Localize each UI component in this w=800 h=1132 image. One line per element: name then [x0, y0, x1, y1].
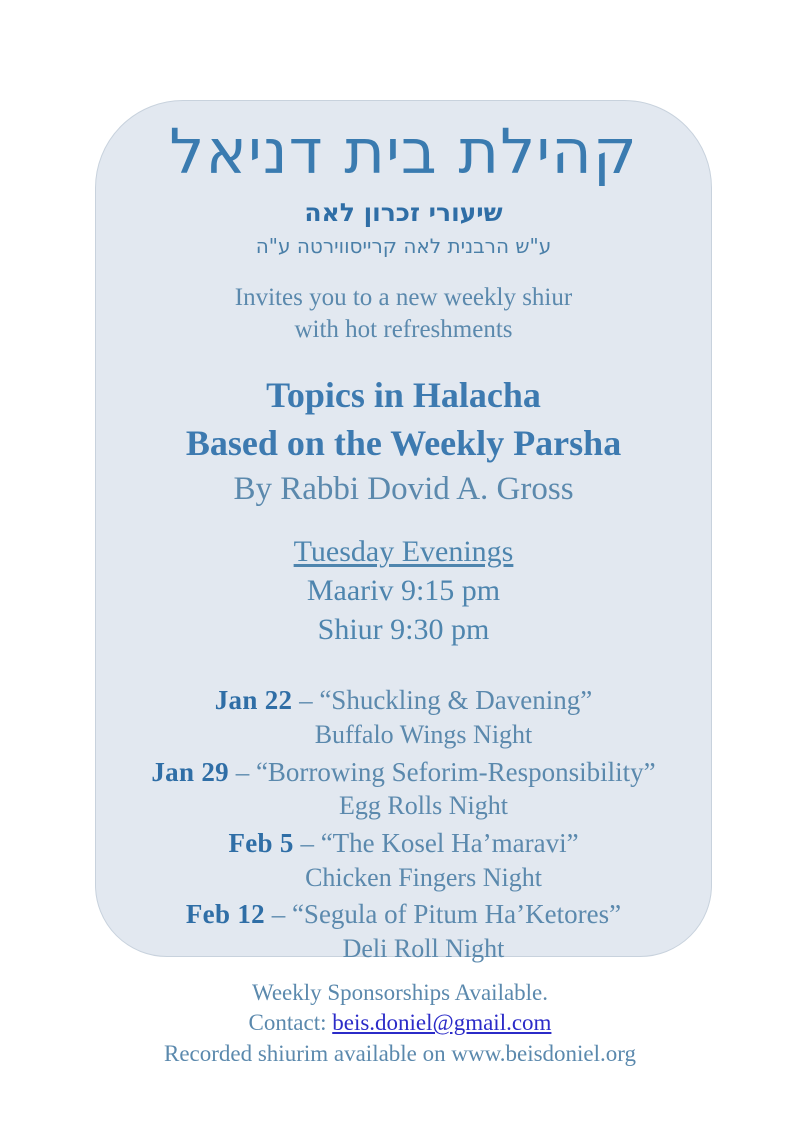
session-headline: Feb 5 – “The Kosel Ha’maravi”: [96, 826, 711, 861]
session-dash: –: [236, 757, 250, 787]
day-of-week-heading: Tuesday Evenings: [96, 532, 711, 571]
contact-line: Contact: beis.doniel@gmail.com: [0, 1008, 800, 1038]
hebrew-series-subtitle: שיעורי זכרון לאה: [96, 198, 711, 228]
session-date: Feb 5: [228, 828, 293, 858]
session-row: Feb 12 – “Segula of Pitum Ha’Ketores”Del…: [96, 897, 711, 965]
session-topic: “The Kosel Ha’maravi”: [321, 828, 579, 858]
session-headline: Jan 29 – “Borrowing Seforim-Responsibili…: [96, 755, 711, 790]
session-refreshment: Chicken Fingers Night: [96, 861, 711, 895]
presenter-name: By Rabbi Dovid A. Gross: [96, 469, 711, 510]
session-refreshment: Deli Roll Night: [96, 932, 711, 966]
contact-label: Contact:: [249, 1010, 327, 1035]
session-date: Jan 22: [215, 685, 293, 715]
session-refreshment: Egg Rolls Night: [96, 789, 711, 823]
shiur-time: Shiur 9:30 pm: [96, 610, 711, 649]
session-topic: “Borrowing Seforim-Responsibility”: [256, 757, 656, 787]
hebrew-dedication-line: ע"ש הרבנית לאה קרייסווירטה ע"ה: [96, 234, 711, 258]
invitation-line-1: Invites you to a new weekly shiur: [96, 282, 711, 314]
session-headline: Jan 22 – “Shuckling & Davening”: [96, 683, 711, 718]
session-topic: “Segula of Pitum Ha’Ketores”: [292, 899, 621, 929]
session-schedule-list: Jan 22 – “Shuckling & Davening”Buffalo W…: [96, 683, 711, 965]
session-date: Feb 12: [186, 899, 265, 929]
session-date: Jan 29: [151, 757, 229, 787]
session-dash: –: [272, 899, 286, 929]
session-dash: –: [299, 685, 313, 715]
session-headline: Feb 12 – “Segula of Pitum Ha’Ketores”: [96, 897, 711, 932]
schedule-times: Tuesday Evenings Maariv 9:15 pm Shiur 9:…: [96, 532, 711, 649]
invitation-line-2: with hot refreshments: [96, 314, 711, 346]
contact-email-link[interactable]: beis.doniel@gmail.com: [332, 1010, 551, 1035]
headline-line-1: Topics in Halacha: [96, 372, 711, 420]
recordings-note: Recorded shiurim available on www.beisdo…: [0, 1039, 800, 1069]
maariv-time: Maariv 9:15 pm: [96, 571, 711, 610]
session-refreshment: Buffalo Wings Night: [96, 718, 711, 752]
session-row: Jan 29 – “Borrowing Seforim-Responsibili…: [96, 755, 711, 823]
headline-line-2: Based on the Weekly Parsha: [96, 420, 711, 468]
hebrew-congregation-title: קהילת בית דניאל: [96, 101, 711, 184]
session-row: Feb 5 – “The Kosel Ha’maravi”Chicken Fin…: [96, 826, 711, 894]
session-topic: “Shuckling & Davening”: [319, 685, 592, 715]
flyer-footer: Weekly Sponsorships Available. Contact: …: [0, 978, 800, 1069]
session-dash: –: [300, 828, 314, 858]
invitation-block: Invites you to a new weekly shiur with h…: [96, 282, 711, 346]
event-headline: Topics in Halacha Based on the Weekly Pa…: [96, 372, 711, 510]
flyer-panel: קהילת בית דניאל שיעורי זכרון לאה ע"ש הרב…: [95, 100, 712, 957]
sponsorship-note: Weekly Sponsorships Available.: [0, 978, 800, 1008]
session-row: Jan 22 – “Shuckling & Davening”Buffalo W…: [96, 683, 711, 751]
